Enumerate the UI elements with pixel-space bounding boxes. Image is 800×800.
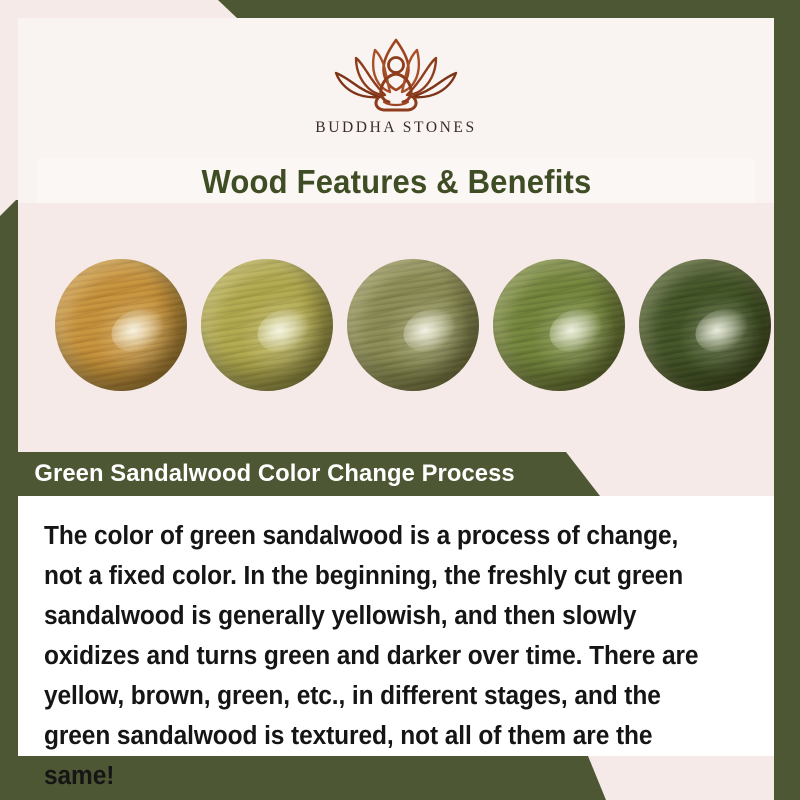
bead-shading	[201, 259, 333, 391]
bead-shading	[55, 259, 187, 391]
bead-stage-3	[347, 259, 479, 391]
bead-stage-1	[55, 259, 187, 391]
frame-top-bar	[0, 0, 800, 18]
body-paragraph: The color of green sandalwood is a proce…	[44, 516, 718, 796]
section-title: Green Sandalwood Color Change Process	[34, 460, 514, 488]
body-panel: The color of green sandalwood is a proce…	[18, 496, 774, 756]
brand-name: BUDDHA STONES	[315, 119, 476, 137]
bead-stage-5	[639, 259, 771, 391]
bead-stage-4	[493, 259, 625, 391]
brand-logo: BUDDHA STONES	[18, 32, 774, 137]
headline-band: Wood Features & Benefits	[38, 158, 754, 206]
poster-canvas: BUDDHA STONES Wood Features & Benefits G…	[0, 0, 800, 800]
bead-stage-2	[201, 259, 333, 391]
frame-left-bar	[0, 200, 18, 800]
bead-shading	[639, 259, 771, 391]
page-title: Wood Features & Benefits	[201, 163, 591, 201]
bead-shading	[493, 259, 625, 391]
lotus-meditation-figure-icon	[312, 32, 480, 116]
header-panel: BUDDHA STONES Wood Features & Benefits	[18, 18, 774, 203]
bead-gallery	[18, 203, 774, 452]
section-banner: Green Sandalwood Color Change Process	[0, 452, 600, 496]
frame-right-bar	[774, 0, 800, 800]
bead-shading	[347, 259, 479, 391]
